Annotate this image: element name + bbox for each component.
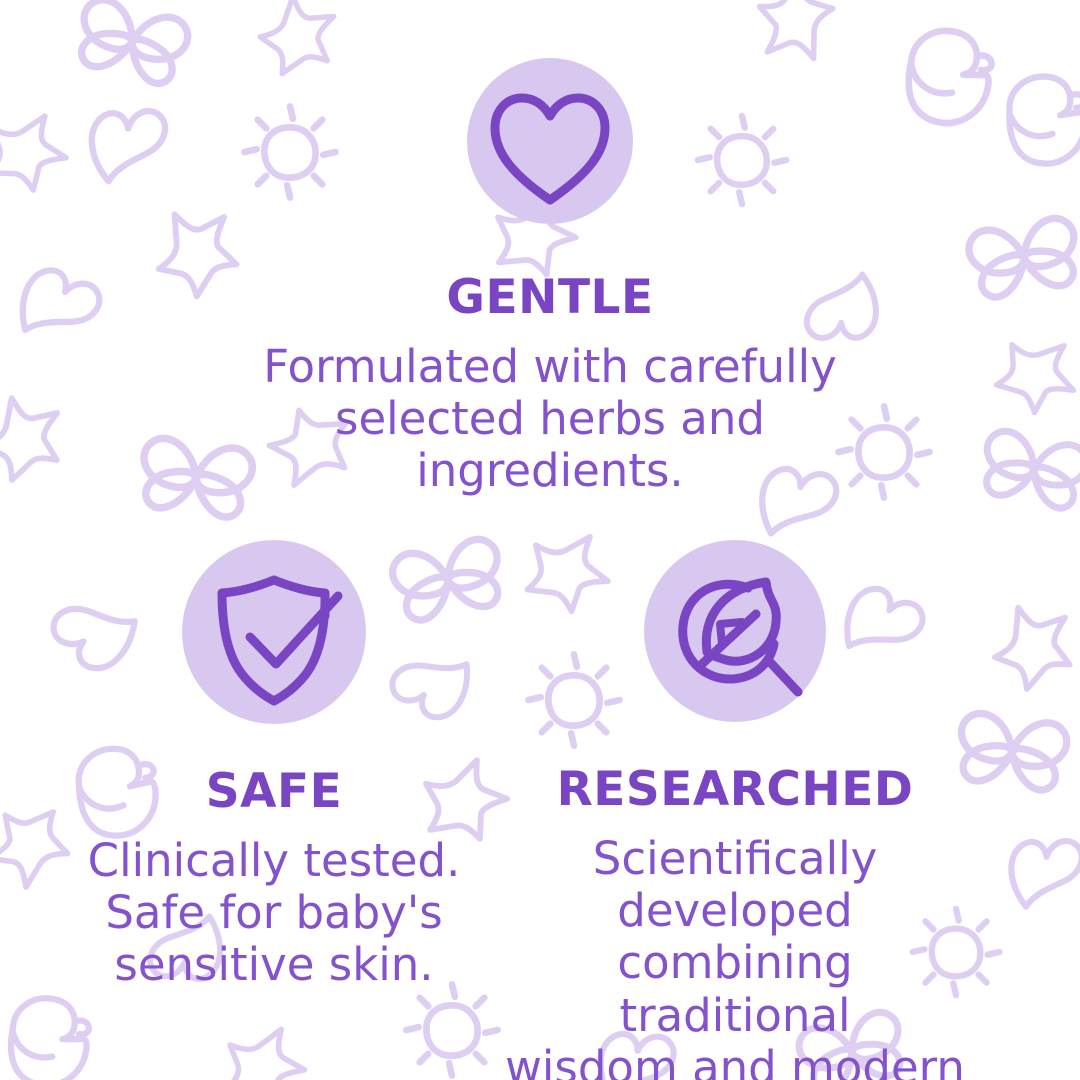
feature-gentle-description: Formulated with carefully selected herbs… xyxy=(240,341,860,498)
feature-researched: RESEARCHED Scientifically developed comb… xyxy=(500,540,970,1080)
feature-gentle: GENTLE Formulated with carefully selecte… xyxy=(240,58,860,498)
description-line: ingredients. xyxy=(240,445,860,497)
description-line: Safe for baby's xyxy=(44,887,504,939)
heart-icon xyxy=(467,58,633,224)
description-line: combining traditional xyxy=(500,937,970,1041)
description-line: Clinically tested. xyxy=(44,835,504,887)
researched-icon-badge xyxy=(644,540,826,722)
shield-check-icon xyxy=(182,540,366,724)
feature-gentle-title: GENTLE xyxy=(240,274,860,321)
feature-safe: SAFE Clinically tested. Safe for baby's … xyxy=(44,540,504,992)
feature-researched-description: Scientifically developed combining tradi… xyxy=(500,833,970,1080)
description-line: selected herbs and xyxy=(240,393,860,445)
description-line: Formulated with carefully xyxy=(240,341,860,393)
safe-icon-badge xyxy=(182,540,366,724)
leaf-magnifier-icon xyxy=(644,540,826,722)
description-line: Scientifically developed xyxy=(500,833,970,937)
description-line: wisdom and modern science. xyxy=(500,1042,970,1080)
feature-safe-description: Clinically tested. Safe for baby's sensi… xyxy=(44,835,504,992)
feature-safe-title: SAFE xyxy=(44,768,504,815)
feature-researched-title: RESEARCHED xyxy=(500,766,970,813)
gentle-icon-badge xyxy=(467,58,633,224)
infographic-canvas: GENTLE Formulated with carefully selecte… xyxy=(0,0,1080,1080)
description-line: sensitive skin. xyxy=(44,939,504,991)
